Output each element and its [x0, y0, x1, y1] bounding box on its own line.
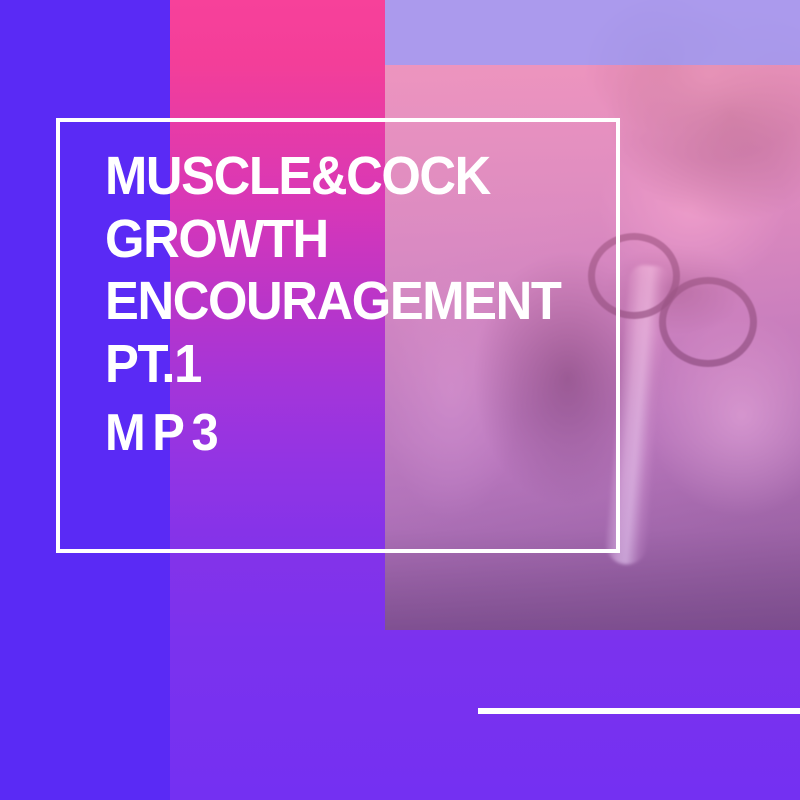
- title-line-4: PT.1: [105, 340, 594, 389]
- title-block: MUSCLE&COCK GROWTH ENCOURAGEMENT PT.1 MP…: [105, 152, 625, 457]
- title-line-3: ENCOURAGEMENT: [105, 277, 594, 326]
- bottom-white-rule: [478, 708, 800, 714]
- poster-canvas: MUSCLE&COCK GROWTH ENCOURAGEMENT PT.1 MP…: [0, 0, 800, 800]
- title-line-5-format: MP3: [105, 410, 594, 457]
- title-line-1: MUSCLE&COCK: [105, 152, 594, 201]
- title-line-2: GROWTH: [105, 215, 594, 264]
- photo-lavender-tint-overlay: [385, 0, 800, 65]
